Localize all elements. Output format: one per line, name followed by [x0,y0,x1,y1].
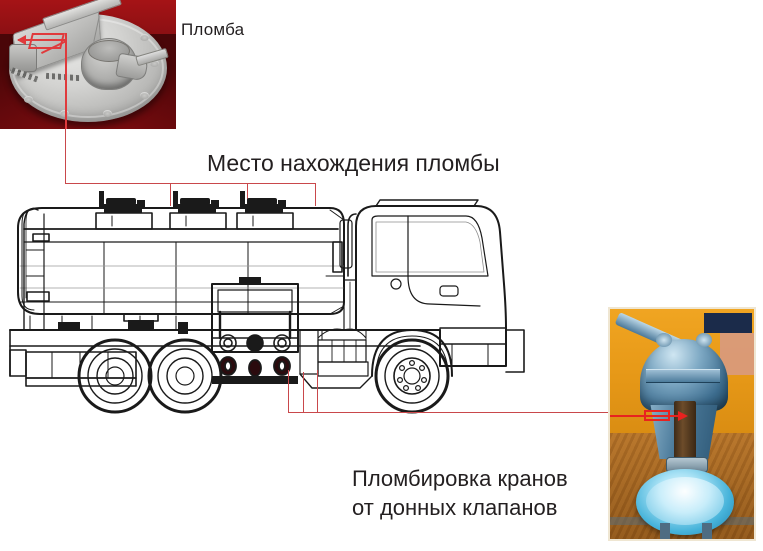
cover-bolt [140,34,149,41]
leader-drop-valve-1 [288,370,289,413]
tank-hatch-photo [0,0,176,129]
hatch-seal-highlight-box [28,33,65,49]
leader-drop-valve-3 [317,370,318,413]
tank-hatch-assembly [99,191,286,213]
cover-bolt [140,92,149,99]
bottom-caption: Пломбировка кранов от донных клапанов [352,464,568,522]
bottom-valve-photo [608,307,756,541]
leader-photo-to-bar [65,129,66,184]
cover-bolt [103,110,112,117]
cover-bolt [24,96,33,103]
valve-leg [702,523,712,539]
bottom-caption-line-1: Пломбировка кранов [352,464,568,493]
photo-dark-patch [704,313,752,333]
leader-horizontal-bottom [288,412,610,413]
page-title: Место нахождения пломбы [207,150,500,177]
valve-dome-band [646,369,720,383]
seal-label: Пломба [181,20,244,40]
valve-seal-highlight-box [644,410,670,421]
valve-leg [660,523,670,539]
hatch-photo-leader-stem [65,33,67,129]
valve-cap-inner [646,477,724,525]
hatch-seal-arrow-icon [18,39,66,41]
tanker-truck-side-view [0,180,600,435]
bottom-caption-line-2: от донных клапанов [352,493,568,522]
valve-dome-bolt [696,333,712,347]
leader-drop-valve-2 [303,372,304,413]
valve-dome-bolt [656,333,672,347]
